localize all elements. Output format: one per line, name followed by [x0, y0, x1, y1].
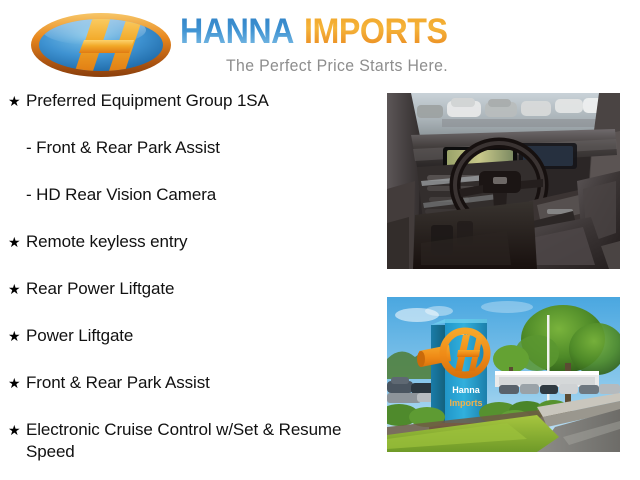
wordmark-line: HANNAIMPORTS [180, 12, 528, 52]
brand-logo-lockup[interactable]: HANNAIMPORTS The Perfect Price Starts He… [28, 6, 528, 84]
list-item: ★ Remote keyless entry [8, 231, 368, 253]
feature-label: Power Liftgate [26, 325, 368, 347]
list-item-sub: - Front & Rear Park Assist [26, 137, 366, 159]
car-interior-photo[interactable] [387, 93, 620, 269]
star-bullet-icon: ★ [8, 278, 26, 300]
feature-label: Rear Power Liftgate [26, 278, 368, 300]
brand-wordmark: HANNAIMPORTS The Perfect Price Starts He… [180, 12, 528, 78]
star-bullet-icon: ★ [8, 325, 26, 347]
list-item-sub: - HD Rear Vision Camera [26, 184, 366, 206]
sign-text-hanna: Hanna [452, 385, 481, 395]
car-interior-illustration [387, 93, 620, 269]
star-bullet-icon: ★ [8, 419, 26, 441]
dealership-illustration: 240 Hanna Imports [387, 297, 620, 452]
feature-label: Front & Rear Park Assist [26, 372, 368, 394]
list-item: ★ Electronic Cruise Control w/Set & Resu… [8, 419, 368, 463]
sign-text-imports: Imports [449, 398, 482, 408]
dealership-sign-photo[interactable]: 240 Hanna Imports [387, 297, 620, 452]
vehicle-features-list: ★ Preferred Equipment Group 1SA - Front … [0, 90, 372, 478]
brand-tagline: The Perfect Price Starts Here. [226, 56, 505, 76]
feature-label: - HD Rear Vision Camera [26, 184, 366, 206]
oval-emblem-svg [28, 12, 174, 78]
star-bullet-icon: ★ [8, 90, 26, 112]
list-item: ★ Preferred Equipment Group 1SA [8, 90, 368, 112]
feature-label: Electronic Cruise Control w/Set & Resume… [26, 419, 368, 463]
feature-label: - Front & Rear Park Assist [26, 137, 366, 159]
list-item: ★ Front & Rear Park Assist [8, 372, 368, 394]
list-item: ★ Rear Power Liftgate [8, 278, 368, 300]
star-bullet-icon: ★ [8, 372, 26, 394]
list-item: ★ Power Liftgate [8, 325, 368, 347]
feature-label: Remote keyless entry [26, 231, 368, 253]
header-banner: HANNAIMPORTS The Perfect Price Starts He… [0, 0, 640, 88]
feature-label: Preferred Equipment Group 1SA [26, 90, 368, 112]
wordmark-imports: IMPORTS [304, 12, 447, 52]
hanna-oval-emblem-icon [28, 12, 174, 78]
wordmark-hanna: HANNA [180, 12, 294, 52]
star-bullet-icon: ★ [8, 231, 26, 253]
